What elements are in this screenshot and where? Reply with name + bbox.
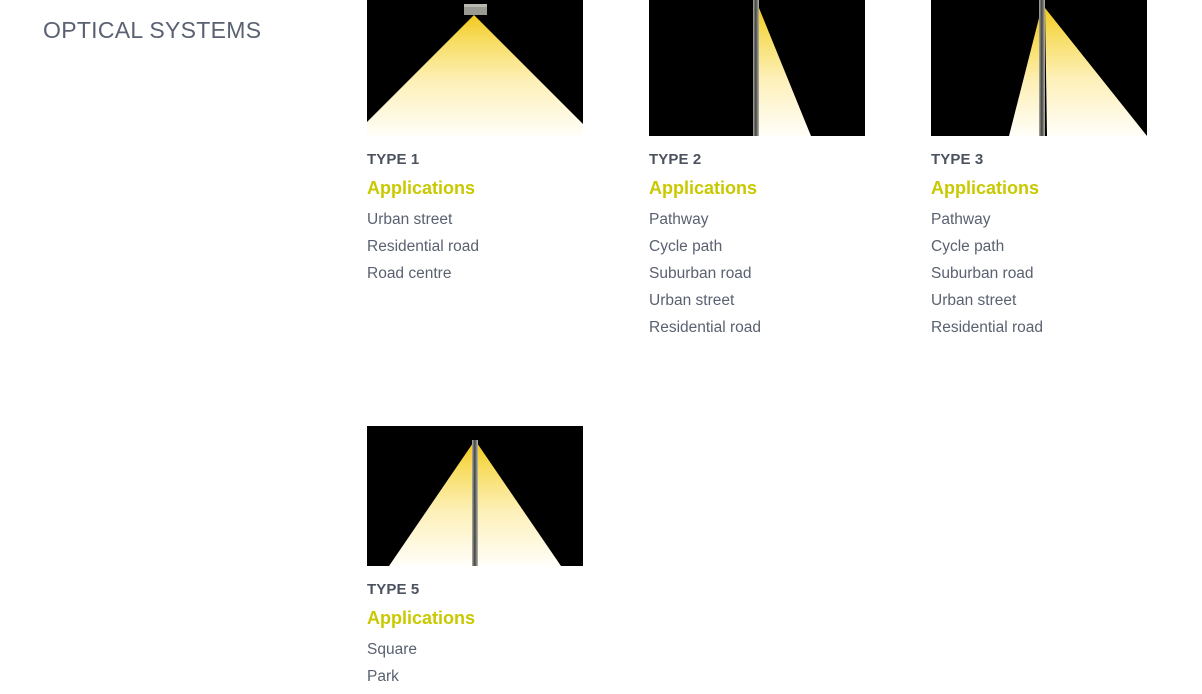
optical-system-card-type-1[interactable]: TYPE 1 Applications Urban street Residen… — [367, 0, 583, 341]
card-text-type-5: TYPE 5 Applications Square Park — [367, 566, 583, 690]
beam-diagram-type-3 — [931, 0, 1147, 136]
list-item: Pathway — [931, 206, 1147, 233]
list-item: Urban street — [367, 206, 583, 233]
applications-list: Urban street Residential road Road centr… — [367, 206, 583, 287]
type-label: TYPE 1 — [367, 149, 583, 170]
applications-heading: Applications — [367, 606, 583, 630]
list-item: Urban street — [649, 287, 865, 314]
applications-list: Square Park — [367, 636, 583, 690]
list-item: Road centre — [367, 260, 583, 287]
card-text-type-3: TYPE 3 Applications Pathway Cycle path S… — [931, 136, 1147, 341]
list-item: Park — [367, 663, 583, 690]
list-item: Cycle path — [649, 233, 865, 260]
type-label: TYPE 5 — [367, 579, 583, 600]
applications-heading: Applications — [649, 176, 865, 200]
beam-diagram-type-5 — [367, 426, 583, 566]
list-item: Pathway — [649, 206, 865, 233]
asymmetric-wide-right-beam-icon — [931, 0, 1147, 136]
asymmetric-narrow-right-beam-icon — [649, 0, 865, 136]
page-title: OPTICAL SYSTEMS — [43, 15, 261, 46]
optical-system-card-type-3[interactable]: TYPE 3 Applications Pathway Cycle path S… — [931, 0, 1147, 341]
symmetric-downward-beam-icon — [367, 0, 583, 136]
applications-list: Pathway Cycle path Suburban road Urban s… — [931, 206, 1147, 341]
optical-system-card-type-2[interactable]: TYPE 2 Applications Pathway Cycle path S… — [649, 0, 865, 341]
optical-systems-grid: TYPE 1 Applications Urban street Residen… — [367, 0, 1202, 690]
applications-list: Pathway Cycle path Suburban road Urban s… — [649, 206, 865, 341]
list-item: Suburban road — [649, 260, 865, 287]
list-item: Residential road — [367, 233, 583, 260]
row-spacer — [367, 341, 1202, 426]
card-text-type-1: TYPE 1 Applications Urban street Residen… — [367, 136, 583, 287]
symmetric-wide-beam-icon — [367, 426, 583, 566]
card-row-2: TYPE 5 Applications Square Park — [367, 426, 1202, 690]
list-item: Cycle path — [931, 233, 1147, 260]
beam-diagram-type-1 — [367, 0, 583, 136]
list-item: Square — [367, 636, 583, 663]
card-text-type-2: TYPE 2 Applications Pathway Cycle path S… — [649, 136, 865, 341]
applications-heading: Applications — [367, 176, 583, 200]
card-row-1: TYPE 1 Applications Urban street Residen… — [367, 0, 1202, 341]
list-item: Urban street — [931, 287, 1147, 314]
applications-heading: Applications — [931, 176, 1147, 200]
beam-diagram-type-2 — [649, 0, 865, 136]
list-item: Suburban road — [931, 260, 1147, 287]
optical-system-card-type-5[interactable]: TYPE 5 Applications Square Park — [367, 426, 583, 690]
type-label: TYPE 3 — [931, 149, 1147, 170]
list-item: Residential road — [931, 314, 1147, 341]
type-label: TYPE 2 — [649, 149, 865, 170]
list-item: Residential road — [649, 314, 865, 341]
